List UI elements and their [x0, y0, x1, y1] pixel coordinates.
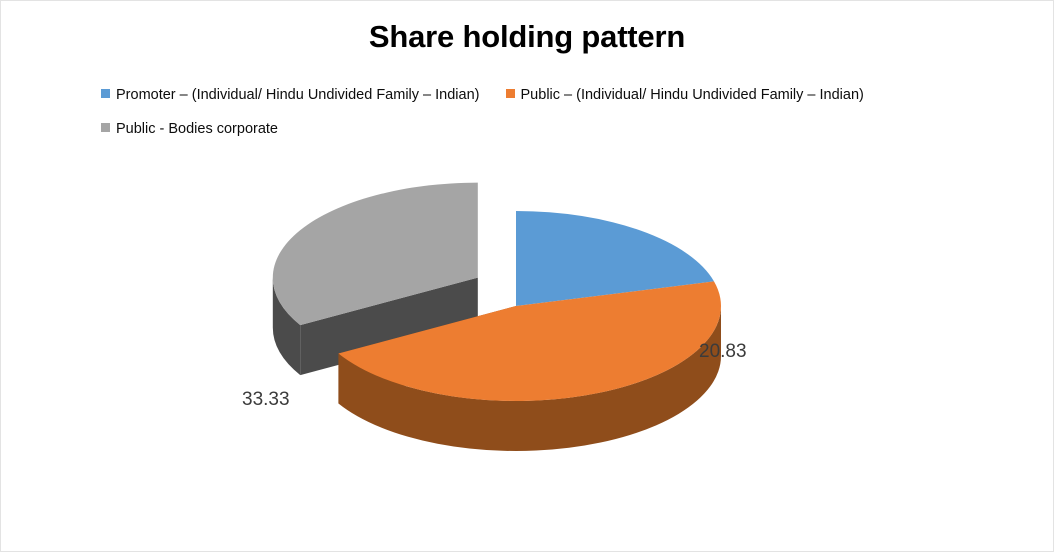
legend-item-promoter[interactable]: Promoter – (Individual/ Hindu Undivided … [101, 85, 479, 105]
legend-row-2: Public - Bodies corporate [101, 119, 961, 139]
pie-svg [1, 151, 1054, 551]
legend-swatch-public-bodies [101, 123, 110, 132]
legend-label-promoter: Promoter – (Individual/ Hindu Undivided … [116, 87, 479, 103]
pie-chart-plot: 20.83 33.33 45.84 [1, 151, 1054, 551]
data-label-public-bodies: 33.33 [242, 389, 290, 411]
legend-label-public-bodies: Public - Bodies corporate [116, 121, 278, 137]
legend-item-public-bodies[interactable]: Public - Bodies corporate [101, 119, 278, 139]
legend-swatch-public-individual [506, 89, 515, 98]
chart-title: Share holding pattern [1, 19, 1053, 55]
chart-container: Share holding pattern Promoter – (Indivi… [0, 0, 1054, 552]
chart-legend: Promoter – (Individual/ Hindu Undivided … [101, 85, 961, 153]
data-label-promoter: 20.83 [699, 341, 747, 363]
legend-label-public-individual: Public – (Individual/ Hindu Undivided Fa… [521, 87, 864, 103]
legend-row-1: Promoter – (Individual/ Hindu Undivided … [101, 85, 961, 105]
legend-item-public-individual[interactable]: Public – (Individual/ Hindu Undivided Fa… [506, 85, 864, 105]
legend-swatch-promoter [101, 89, 110, 98]
